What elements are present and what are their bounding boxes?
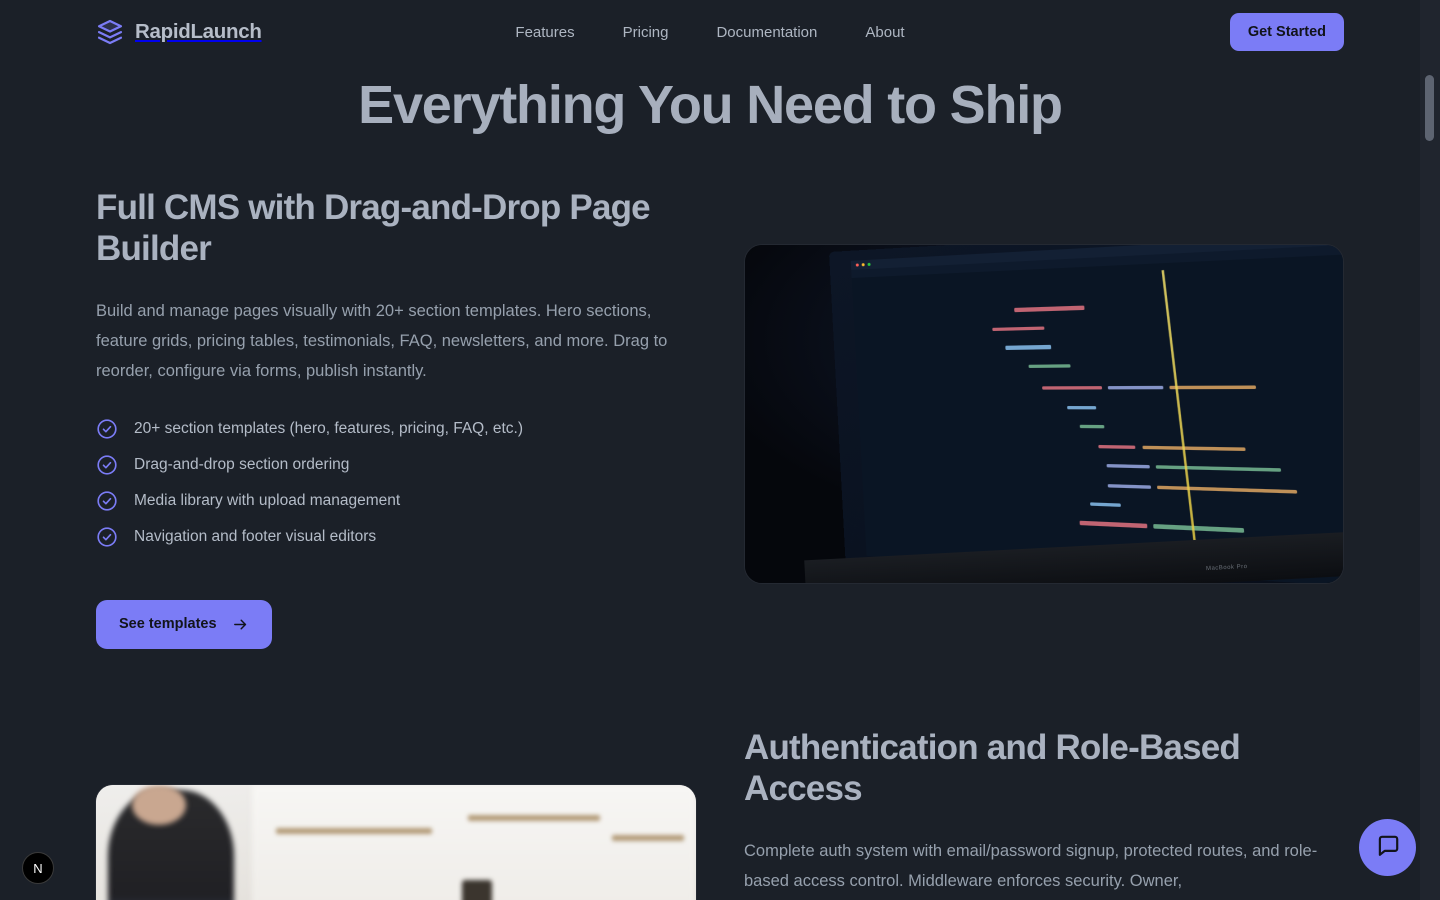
feature-image-code-editor: MacBook Pro [745,245,1343,583]
feature-description: Complete auth system with email/password… [744,836,1344,896]
get-started-button[interactable]: Get Started [1230,13,1344,51]
nav-item-about[interactable]: About [865,24,904,41]
list-item-label: Navigation and footer visual editors [134,528,376,546]
check-circle-icon [96,454,118,476]
editor-highlight-line [1161,270,1198,563]
page-scrollbar[interactable] [1420,0,1440,900]
feature-section-cms: Full CMS with Drag-and-Drop Page Builder… [96,188,716,649]
code-editor-screen [850,245,1343,583]
list-item: 20+ section templates (hero, features, p… [96,418,716,440]
cafe-mug [462,880,492,900]
brand-name: RapidLaunch [135,20,262,44]
page-viewport: RapidLaunch Features Pricing Documentati… [0,0,1440,900]
list-item-label: 20+ section templates (hero, features, p… [134,420,523,438]
check-circle-icon [96,490,118,512]
see-templates-button[interactable]: See templates [96,600,272,649]
feature-image-cafe-laptop [96,785,696,900]
feature-heading: Full CMS with Drag-and-Drop Page Builder [96,188,716,270]
check-circle-icon [96,526,118,548]
feature-section-auth: Authentication and Role-Based Access Com… [744,728,1344,896]
chat-bubble-icon [1375,833,1401,862]
site-header: RapidLaunch Features Pricing Documentati… [0,0,1420,64]
check-circle-icon [96,418,118,440]
nav-item-pricing[interactable]: Pricing [623,24,669,41]
page-title: Everything You Need to Ship [0,74,1420,136]
dev-tools-badge[interactable]: N [22,852,54,884]
arrow-right-icon [232,616,249,633]
chat-widget-button[interactable] [1359,819,1416,876]
list-item: Media library with upload management [96,490,716,512]
feature-bullet-list: 20+ section templates (hero, features, p… [96,418,716,548]
list-item-label: Media library with upload management [134,492,400,510]
nav-item-features[interactable]: Features [515,24,574,41]
blurred-person-head [132,785,186,825]
list-item: Drag-and-drop section ordering [96,454,716,476]
layers-stack-icon [96,18,124,46]
photo-cafe [96,785,696,900]
photo-dark-laptop: MacBook Pro [745,245,1343,583]
see-templates-label: See templates [119,616,217,632]
nav-item-documentation[interactable]: Documentation [716,24,817,41]
scrollbar-thumb[interactable] [1425,75,1434,141]
list-item-label: Drag-and-drop section ordering [134,456,349,474]
brand-logo[interactable]: RapidLaunch [96,18,262,46]
main-nav: Features Pricing Documentation About [515,24,904,41]
laptop-lid [829,245,1343,583]
list-item: Navigation and footer visual editors [96,526,716,548]
feature-heading: Authentication and Role-Based Access [744,728,1344,810]
feature-description: Build and manage pages visually with 20+… [96,296,696,386]
